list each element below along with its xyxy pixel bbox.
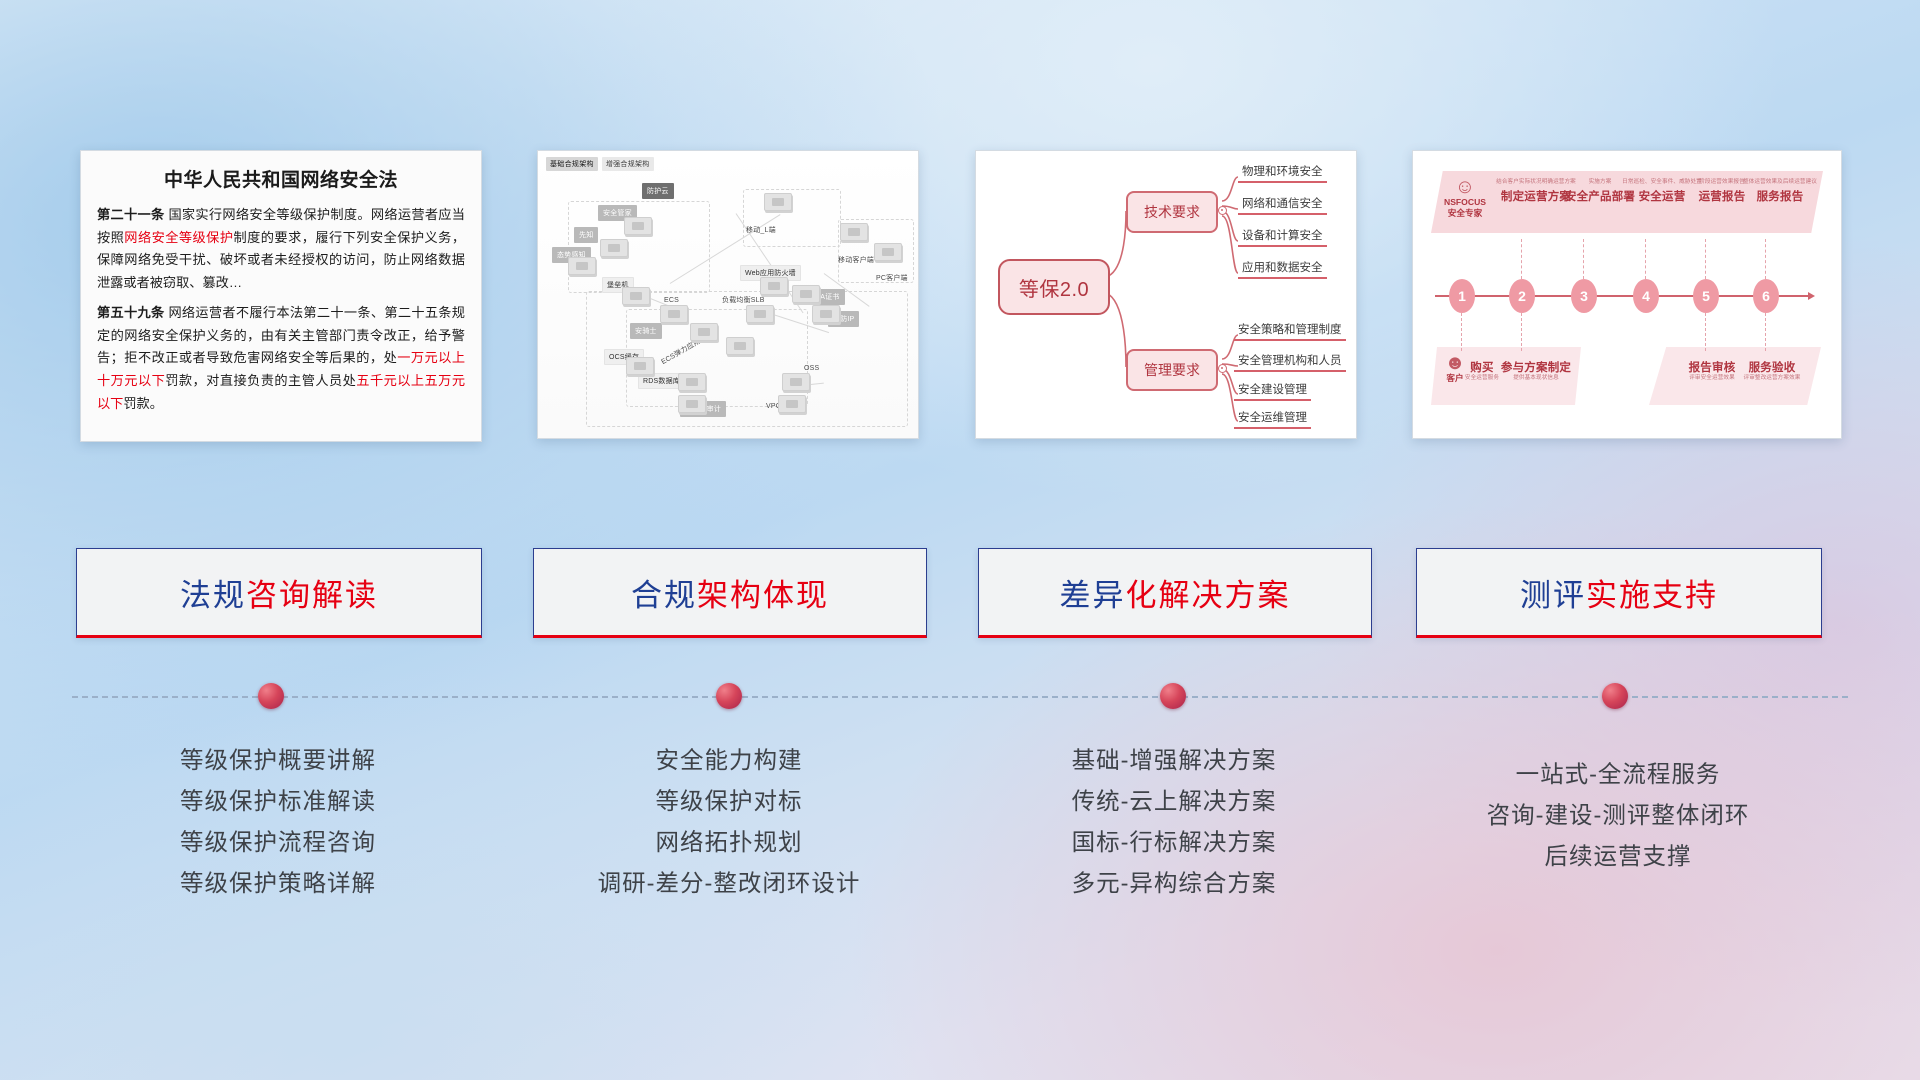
arch-node-13 <box>690 323 718 341</box>
timeline-canvas: ☺ NSFOCUS 安全专家 结合客户实际状况明确运营方案 制定运营方案 实施方… <box>1413 151 1841 438</box>
mindmap-leaf-m3: 安全建设管理 <box>1234 381 1311 401</box>
architecture-canvas: 基础合规架构 增强合规架构 防护云 安全管家 先知 态势感知 <box>538 151 918 438</box>
list-item: 等级保护策略详解 <box>76 863 480 904</box>
section-title-3: 差异化解决方案 <box>1060 570 1291 615</box>
arch-label-anqishi: 安骑士 <box>630 323 662 339</box>
actor-security-expert: ☺ NSFOCUS 安全专家 <box>1437 177 1493 218</box>
architecture-diagram-card: 基础合规架构 增强合规架构 防护云 安全管家 先知 态势感知 <box>537 150 919 439</box>
section-title-1: 法规咨询解读 <box>180 570 378 615</box>
list-item: 等级保护概要讲解 <box>76 740 480 781</box>
mindmap-branch-management: 管理要求 <box>1126 349 1218 391</box>
timeline-conn-b4 <box>1765 313 1767 351</box>
rail-dot-2[interactable] <box>716 683 742 709</box>
section-title-4-suffix: 实施支持 <box>1586 578 1718 613</box>
arch-node-9 <box>792 285 820 303</box>
timeline-conn-b3 <box>1705 313 1707 351</box>
step-bottom-2-title: 参与方案制定 <box>1489 359 1583 375</box>
rail-dot-4[interactable] <box>1602 683 1628 709</box>
list-item: 咨询-建设-测评整体闭环 <box>1416 795 1820 836</box>
mindmap-leaf-m1: 安全策略和管理制度 <box>1234 321 1346 341</box>
list-item: 安全能力构建 <box>533 740 925 781</box>
section-title-4-prefix: 测评 <box>1520 578 1586 613</box>
section-title-box-3[interactable]: 差异化解决方案 <box>978 548 1372 638</box>
timeline-step-bottom-2: 参与方案制定 提供基本现状信息 <box>1489 359 1583 384</box>
mindmap-leaf-m2: 安全管理机构和人员 <box>1234 352 1346 372</box>
list-item: 等级保护对标 <box>533 781 925 822</box>
arch-label-pc-client: PC客户端 <box>872 271 912 285</box>
list-item: 国标-行标解决方案 <box>978 822 1370 863</box>
section-title-2-prefix: 合规 <box>631 578 697 613</box>
mindmap-leaf-t2: 网络和通信安全 <box>1238 195 1327 215</box>
timeline-conn-3 <box>1583 239 1585 279</box>
rail-dot-3[interactable] <box>1160 683 1186 709</box>
mindmap-root-node: 等保2.0 <box>998 259 1110 315</box>
timeline-rail <box>72 696 1848 700</box>
list-item: 基础-增强解决方案 <box>978 740 1370 781</box>
arch-node-6 <box>840 223 868 241</box>
timeline-conn-4 <box>1645 239 1647 279</box>
law-article-59: 第五十九条 网络运营者不履行本法第二十一条、第二十五条规定的网络安全保护义务的，… <box>97 302 465 416</box>
section-title-box-2[interactable]: 合规架构体现 <box>533 548 927 638</box>
arch-label-xianzhi: 先知 <box>574 227 598 243</box>
arch-label-protection-cloud: 防护云 <box>642 183 674 199</box>
list-item: 多元-异构综合方案 <box>978 863 1370 904</box>
expert-brand: NSFOCUS <box>1437 197 1493 208</box>
service-timeline-card: ☺ NSFOCUS 安全专家 结合客户实际状况明确运营方案 制定运营方案 实施方… <box>1412 150 1842 439</box>
detail-list-4: 一站式-全流程服务 咨询-建设-测评整体闭环 后续运营支撑 <box>1416 740 1820 877</box>
article-59-text-3: 罚款。 <box>123 396 163 411</box>
list-item: 后续运营支撑 <box>1416 836 1820 877</box>
step-top-5-title: 服务报告 <box>1733 188 1827 204</box>
arch-node-16 <box>678 373 706 391</box>
arch-node-18 <box>782 373 810 391</box>
rail-dot-1[interactable] <box>258 683 284 709</box>
architecture-tabs: 基础合规架构 增强合规架构 <box>546 157 654 171</box>
detail-list-2: 安全能力构建 等级保护对标 网络拓扑规划 调研-差分-整改闭环设计 <box>533 740 925 905</box>
arch-node-8 <box>760 277 788 295</box>
timeline-conn-b1 <box>1461 313 1463 351</box>
arch-node-3 <box>568 257 596 275</box>
arch-node-1 <box>624 217 652 235</box>
section-title-3-suffix: 化解决方案 <box>1126 578 1291 613</box>
arch-node-14 <box>726 337 754 355</box>
arch-node-17 <box>678 395 706 413</box>
mindmap-leaf-m4: 安全运维管理 <box>1234 409 1311 429</box>
section-detail-row: 等级保护概要讲解 等级保护标准解读 等级保护流程咨询 等级保护策略详解 安全能力… <box>0 740 1920 970</box>
timeline-conn-5 <box>1705 239 1707 279</box>
arch-node-7 <box>874 243 902 261</box>
arch-label-mobile-client: 移动客户端 <box>834 253 878 267</box>
section-title-box-1[interactable]: 法规咨询解读 <box>76 548 482 638</box>
expert-role: 安全专家 <box>1437 208 1493 219</box>
expand-dot-icon-technical[interactable] <box>1218 206 1227 215</box>
list-item: 调研-差分-整改闭环设计 <box>533 863 925 904</box>
arch-node-5 <box>764 193 792 211</box>
step-bottom-4-sub: 评审整改运营方案效果 <box>1725 375 1819 382</box>
timeline-node-4: 4 <box>1633 279 1659 313</box>
section-title-4: 测评实施支持 <box>1520 570 1718 615</box>
section-title-1-suffix: 咨询解读 <box>246 578 378 613</box>
timeline-conn-6 <box>1765 239 1767 279</box>
section-title-box-4[interactable]: 测评实施支持 <box>1416 548 1822 638</box>
mindmap-canvas: 等保2.0 技术要求 物理和环境安全 网络和通信安全 设备和计算安全 应用和数据… <box>976 151 1356 438</box>
timeline-node-5: 5 <box>1693 279 1719 313</box>
detail-list-1: 等级保护概要讲解 等级保护标准解读 等级保护流程咨询 等级保护策略详解 <box>76 740 480 905</box>
arch-node-19 <box>778 395 806 413</box>
section-title-2-suffix: 架构体现 <box>697 578 829 613</box>
law-body: 中华人民共和国网络安全法 第二十一条 国家实行网络安全等级保护制度。网络运营者应… <box>81 151 481 441</box>
arch-node-2 <box>600 239 628 257</box>
mindmap-leaf-t3: 设备和计算安全 <box>1238 227 1327 247</box>
law-article-21: 第二十一条 国家实行网络安全等级保护制度。网络运营者应当按照网络安全等级保护制度… <box>97 204 465 295</box>
mindmap-card: 等保2.0 技术要求 物理和环境安全 网络和通信安全 设备和计算安全 应用和数据… <box>975 150 1357 439</box>
arch-node-10 <box>812 305 840 323</box>
list-item: 一站式-全流程服务 <box>1416 754 1820 795</box>
article-59-label: 第五十九条 <box>97 305 164 320</box>
zone-mobile <box>743 189 841 247</box>
timeline-conn-2 <box>1521 239 1523 279</box>
arch-node-11 <box>660 305 688 323</box>
step-bottom-4-title: 服务验收 <box>1725 359 1819 375</box>
expert-person-icon: ☺ <box>1437 177 1493 197</box>
expand-dot-icon-management[interactable] <box>1218 364 1227 373</box>
timeline-conn-b2 <box>1521 313 1523 351</box>
detail-list-3: 基础-增强解决方案 传统-云上解决方案 国标-行标解决方案 多元-异构综合方案 <box>978 740 1370 905</box>
timeline-node-1: 1 <box>1449 279 1475 313</box>
timeline-node-6: 6 <box>1753 279 1779 313</box>
arch-label-mobile-end: 移动_L端 <box>742 223 780 237</box>
article-21-highlight: 网络安全等级保护 <box>124 230 233 245</box>
mindmap-leaf-t4: 应用和数据安全 <box>1238 259 1327 279</box>
arch-node-12 <box>746 305 774 323</box>
law-title: 中华人民共和国网络安全法 <box>97 165 465 192</box>
tab-basic-compliance[interactable]: 基础合规架构 <box>546 157 598 171</box>
list-item: 网络拓扑规划 <box>533 822 925 863</box>
step-bottom-2-sub: 提供基本现状信息 <box>1489 375 1583 382</box>
timeline-node-2: 2 <box>1509 279 1535 313</box>
list-item: 等级保护流程咨询 <box>76 822 480 863</box>
section-title-row: 法规咨询解读 合规架构体现 差异化解决方案 测评实施支持 <box>0 548 1920 638</box>
list-item: 等级保护标准解读 <box>76 781 480 822</box>
article-59-text-2: 罚款，对直接负责的主管人员处 <box>165 373 356 388</box>
step-top-5-sub: 整体运营效果及后续运营建议 <box>1733 179 1827 186</box>
mindmap-leaf-t1: 物理和环境安全 <box>1238 163 1327 183</box>
mindmap-branch-technical: 技术要求 <box>1126 191 1218 233</box>
article-21-label: 第二十一条 <box>97 207 164 222</box>
section-title-2: 合规架构体现 <box>631 570 829 615</box>
tab-enhanced-compliance[interactable]: 增强合规架构 <box>602 157 654 171</box>
list-item: 传统-云上解决方案 <box>978 781 1370 822</box>
arch-node-4 <box>622 287 650 305</box>
timeline-step-bottom-4: 服务验收 评审整改运营方案效果 <box>1725 359 1819 384</box>
section-title-1-prefix: 法规 <box>180 578 246 613</box>
timeline-node-3: 3 <box>1571 279 1597 313</box>
poster-stage: 中华人民共和国网络安全法 第二十一条 国家实行网络安全等级保护制度。网络运营者应… <box>0 0 1920 1080</box>
evidence-card-row: 中华人民共和国网络安全法 第二十一条 国家实行网络安全等级保护制度。网络运营者应… <box>0 150 1920 440</box>
law-text-card: 中华人民共和国网络安全法 第二十一条 国家实行网络安全等级保护制度。网络运营者应… <box>80 150 482 442</box>
section-title-3-prefix: 差异 <box>1060 578 1126 613</box>
arch-node-15 <box>626 357 654 375</box>
timeline-step-top-5: 整体运营效果及后续运营建议 服务报告 <box>1733 179 1827 204</box>
